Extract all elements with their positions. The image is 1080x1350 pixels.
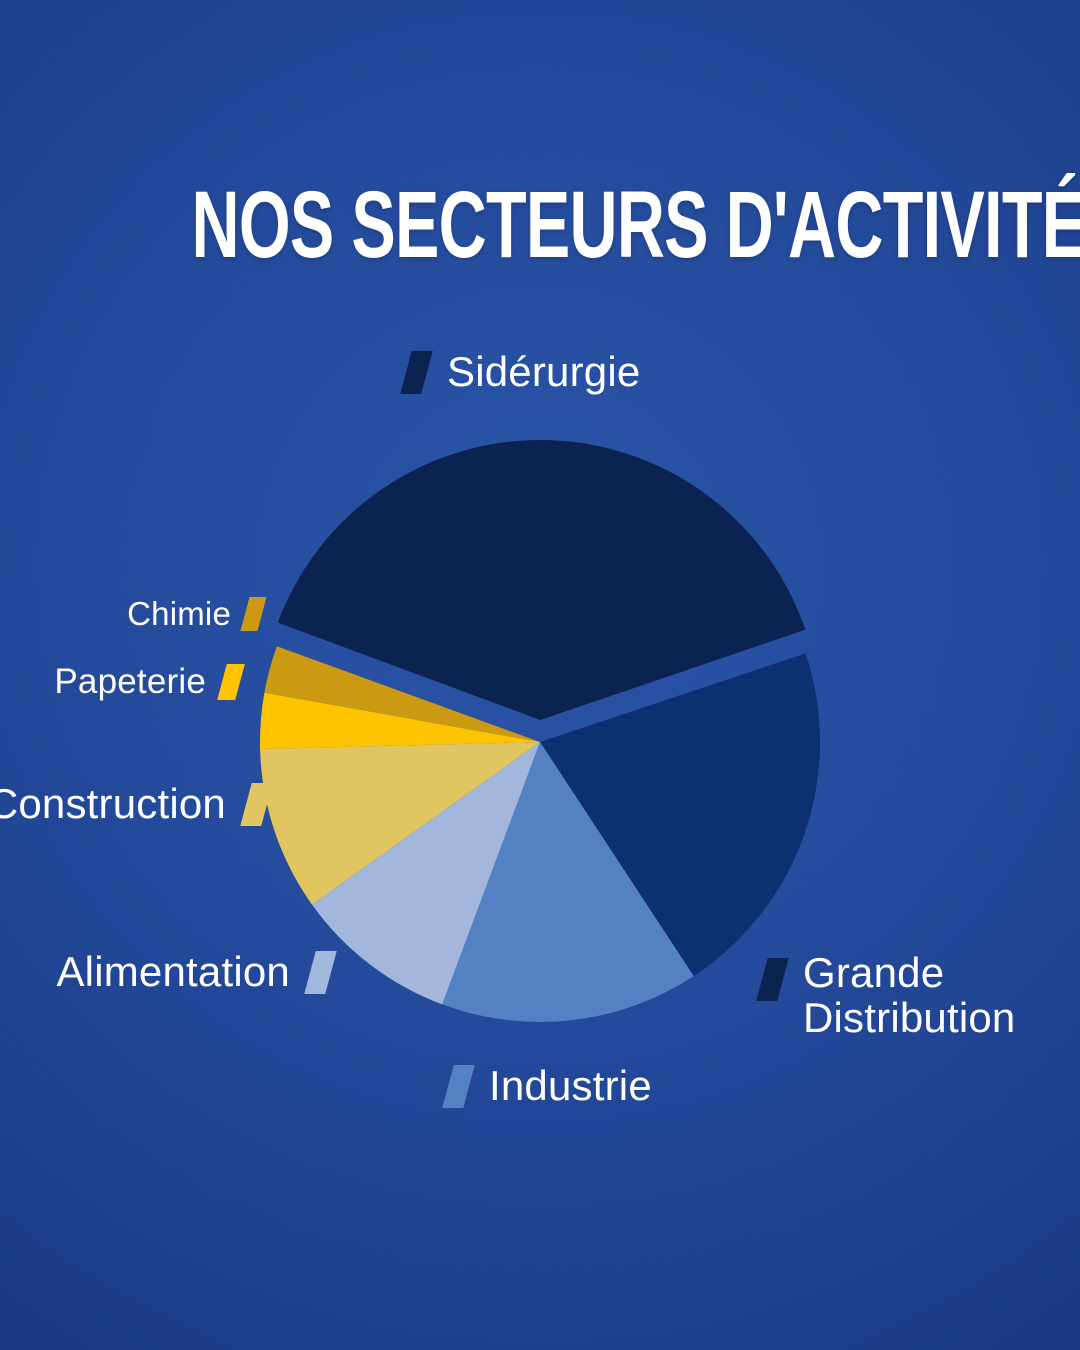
pie-slice-group bbox=[260, 440, 820, 1022]
legend-label-chimie: Chimie bbox=[127, 595, 231, 633]
legend-label-construction: Construction bbox=[0, 780, 226, 828]
legend-label-grande-line1: Grande bbox=[803, 949, 944, 996]
legend-label-grande-line2: Distribution bbox=[803, 994, 1015, 1041]
legend-item-industrie[interactable]: Industrie bbox=[448, 1062, 652, 1110]
legend-item-grande-distribution[interactable]: GrandeDistribution bbox=[762, 950, 1015, 1041]
legend-label-alimentation: Alimentation bbox=[56, 948, 290, 996]
legend-label-grande-distribution: GrandeDistribution bbox=[803, 950, 1015, 1041]
legend-label-industrie: Industrie bbox=[489, 1062, 652, 1110]
legend-item-chimie[interactable]: Chimie bbox=[0, 595, 262, 633]
legend-item-siderurgie[interactable]: Sidérurgie bbox=[406, 348, 640, 396]
legend-swatch-grande-distribution-icon bbox=[756, 958, 789, 1001]
legend-swatch-industrie-icon bbox=[442, 1065, 475, 1108]
legend-swatch-siderurgie-icon bbox=[400, 351, 433, 394]
legend-item-papeterie[interactable]: Papeterie bbox=[0, 662, 240, 702]
legend-item-construction[interactable]: Construction bbox=[0, 780, 267, 828]
legend-label-siderurgie: Sidérurgie bbox=[447, 348, 640, 396]
legend-label-papeterie: Papeterie bbox=[54, 662, 206, 702]
legend-item-alimentation[interactable]: Alimentation bbox=[0, 948, 331, 996]
